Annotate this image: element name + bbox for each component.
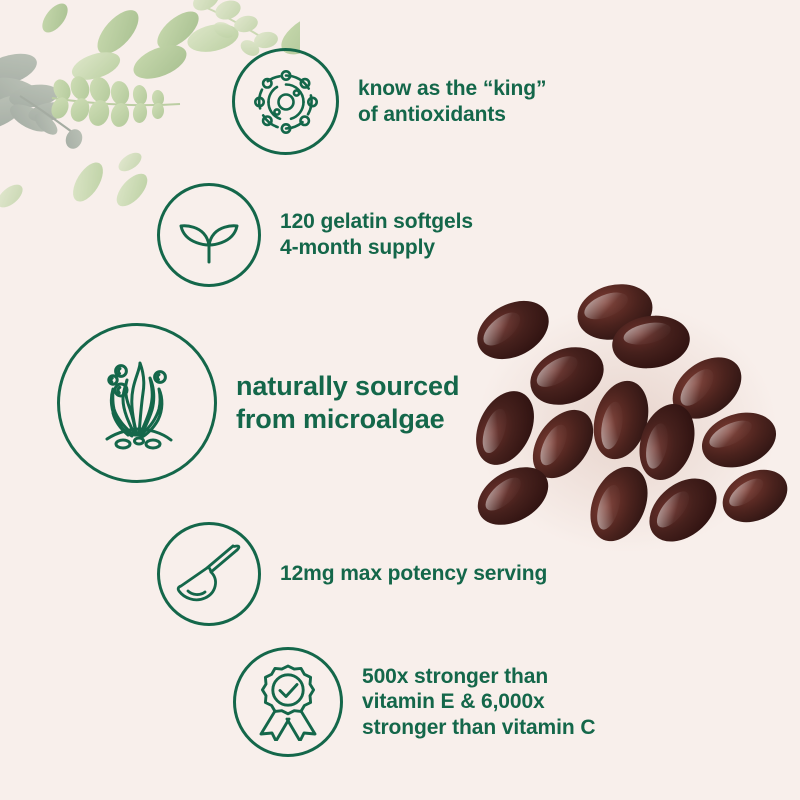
infographic-canvas: know as the “king” of antioxidants 120 g… xyxy=(0,0,800,800)
feature-badge-softgels xyxy=(157,183,261,287)
feature-badge-potency xyxy=(157,522,261,626)
feature-text-strength: 500x stronger than vitamin E & 6,000x st… xyxy=(362,664,595,741)
astaxanthin-softgel-capsules xyxy=(455,268,800,553)
feature-badge-antioxidant xyxy=(232,48,339,155)
feature-text-microalgae: naturally sourced from microalgae xyxy=(236,370,459,436)
award-ribbon-icon xyxy=(251,663,325,741)
feature-row-potency: 12mg max potency serving xyxy=(157,522,547,626)
seaweed-algae-icon xyxy=(83,349,191,457)
feature-text-potency: 12mg max potency serving xyxy=(280,561,547,587)
feature-text-antioxidant: know as the “king” of antioxidants xyxy=(358,76,546,127)
feature-badge-strength xyxy=(233,647,343,757)
spoon-icon xyxy=(175,543,243,605)
feature-row-microalgae: naturally sourced from microalgae xyxy=(57,323,459,483)
sprout-leaf-icon xyxy=(176,204,242,266)
feature-badge-microalgae xyxy=(57,323,217,483)
feature-row-softgels: 120 gelatin softgels 4-month supply xyxy=(157,183,473,287)
molecule-icon xyxy=(250,66,322,138)
feature-text-softgels: 120 gelatin softgels 4-month supply xyxy=(280,209,473,260)
feature-row-antioxidant: know as the “king” of antioxidants xyxy=(232,48,546,155)
feature-row-strength: 500x stronger than vitamin E & 6,000x st… xyxy=(233,647,595,757)
